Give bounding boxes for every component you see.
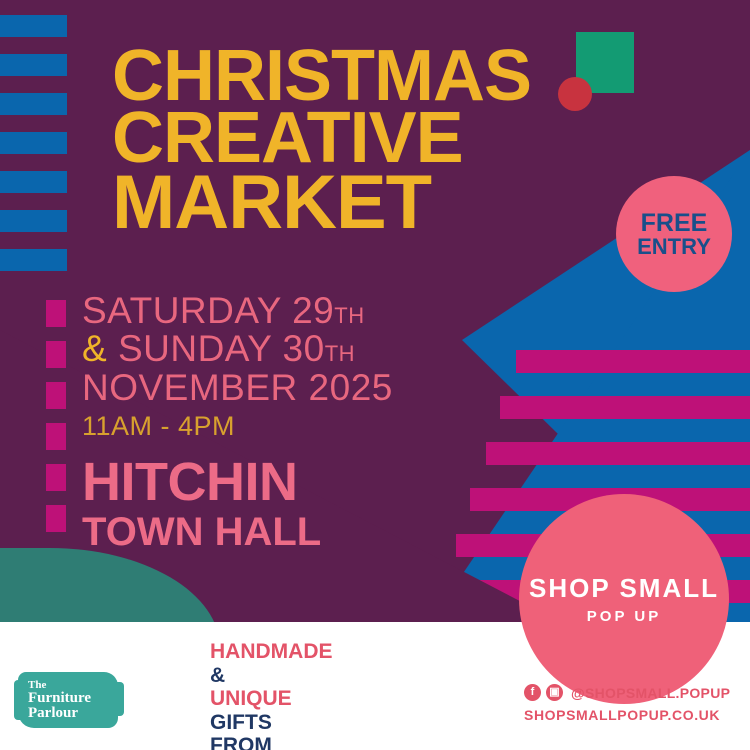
facebook-icon[interactable]: f [524,684,541,701]
tagline-handmade: HANDMADE [210,640,470,664]
date-line-2-text: SUNDAY 30 [118,328,325,369]
shop-small-badge: SHOP SMALL POP UP [519,494,729,704]
date-line-1-text: SATURDAY 29 [82,290,334,331]
website-url[interactable]: SHOPSMALLPOPUP.CO.UK [524,707,734,723]
venue-name: TOWN HALL [82,511,502,553]
tagline-block: HANDMADE & UNIQUE GIFTS FROM LOCAL SMALL… [210,640,470,750]
shop-small-line-1: SHOP SMALL [529,573,719,604]
venue-city: HITCHIN [82,455,502,509]
date-line-3: NOVEMBER 2025 [82,369,502,407]
poster-canvas: CHRISTMAS CREATIVE MARKET FREE ENTRY SAT… [0,0,750,750]
furniture-parlour-logo: The Furniture Parlour [18,668,122,734]
logo-line-3: Parlour [28,706,114,721]
venue-block: HITCHIN TOWN HALL [82,455,502,553]
event-time: 11AM - 4PM [82,412,502,440]
event-dates: SATURDAY 29TH & SUNDAY 30TH NOVEMBER 202… [82,292,502,440]
date-line-1-sup: TH [334,303,364,328]
tagline-line-3: FROM LOCAL [210,734,470,750]
title-line-3: MARKET [112,170,582,235]
ampersand: & [82,328,107,369]
tagline-unique: UNIQUE [210,687,470,711]
date-tick-marks [46,300,68,532]
tagline-line-1: HANDMADE & [210,640,470,687]
tagline-gifts: GIFTS [210,711,470,735]
left-blue-stripes [0,0,70,290]
free-entry-badge: FREE ENTRY [616,176,732,292]
shop-small-line-2: POP UP [587,608,661,625]
date-line-1: SATURDAY 29TH [82,292,502,330]
tagline-amp: & [210,664,470,688]
social-handle[interactable]: @SHOPSMALL.POPUP [571,685,730,701]
logo-text: The Furniture Parlour [28,680,114,721]
tagline-line-2: UNIQUE GIFTS [210,687,470,734]
page-title: CHRISTMAS CREATIVE MARKET [112,46,582,235]
logo-line-2: Furniture [28,691,114,706]
free-entry-line-2: ENTRY [637,236,711,258]
instagram-icon[interactable]: ▣ [546,684,563,701]
social-block: f ▣ @SHOPSMALL.POPUP SHOPSMALLPOPUP.CO.U… [524,684,734,723]
date-line-2-sup: TH [325,341,355,366]
social-handle-row: f ▣ @SHOPSMALL.POPUP [524,684,734,701]
free-entry-line-1: FREE [641,211,708,236]
date-line-2: & SUNDAY 30TH [82,330,502,368]
tagline-from: FROM [210,734,470,750]
